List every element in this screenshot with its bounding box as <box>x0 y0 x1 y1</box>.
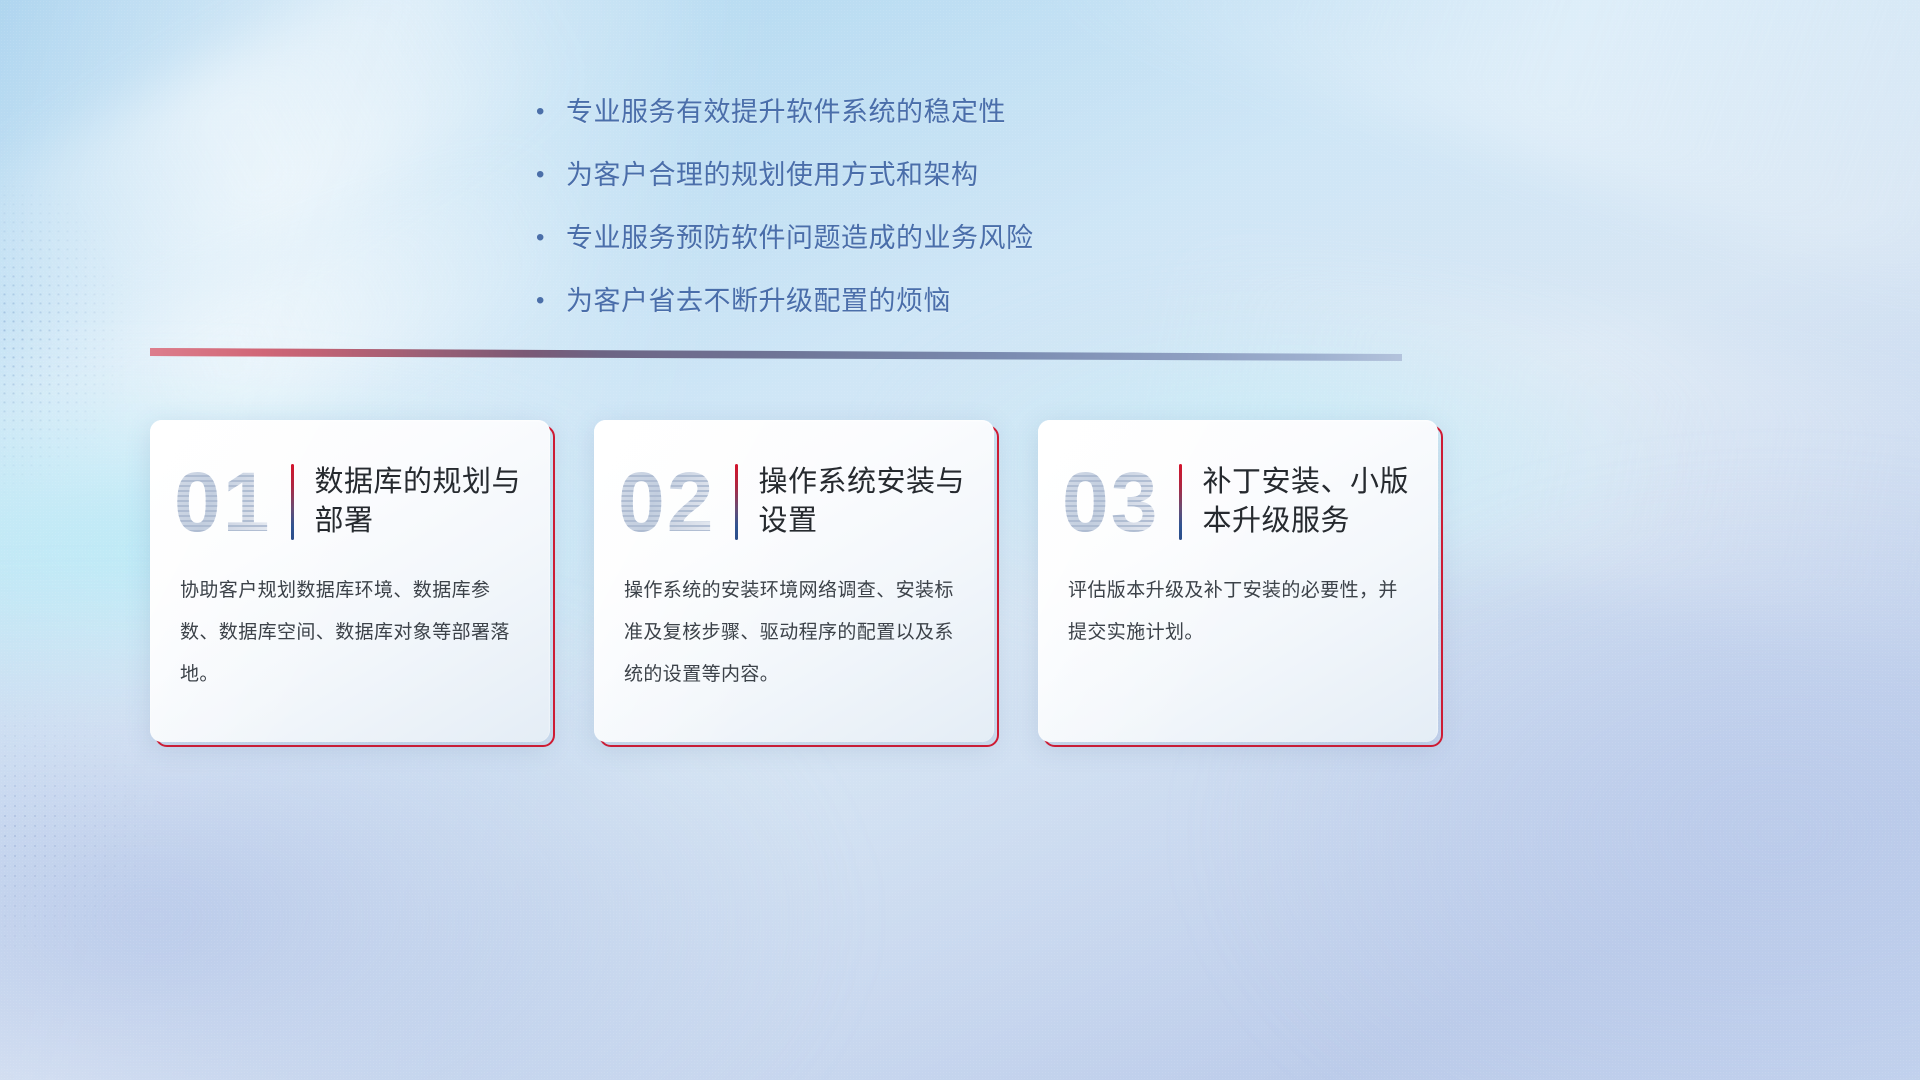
bullet-text: 为客户合理的规划使用方式和架构 <box>566 155 979 195</box>
card-body-text: 操作系统的安装环境网络调查、安装标准及复核步骤、驱动程序的配置以及系统的设置等内… <box>594 570 994 697</box>
bullet-dot-icon: • <box>536 155 566 195</box>
bullet-text: 专业服务预防软件问题造成的业务风险 <box>566 218 1034 258</box>
card-number: 01 <box>174 460 271 544</box>
service-card-01[interactable]: 01 数据库的规划与部署 协助客户规划数据库环境、数据库参数、数据库空间、数据库… <box>150 420 550 742</box>
card-divider-bar <box>1179 464 1182 540</box>
list-item: • 专业服务有效提升软件系统的稳定性 <box>536 92 1236 132</box>
bullet-dot-icon: • <box>536 92 566 132</box>
bullet-dot-icon: • <box>536 218 566 258</box>
list-item: • 为客户合理的规划使用方式和架构 <box>536 155 1236 195</box>
service-card-grid: 01 数据库的规划与部署 协助客户规划数据库环境、数据库参数、数据库空间、数据库… <box>150 420 1438 742</box>
divider-gloss <box>150 348 1402 361</box>
bullet-text: 专业服务有效提升软件系统的稳定性 <box>566 92 1006 132</box>
card-divider-bar <box>735 464 738 540</box>
service-card-03[interactable]: 03 补丁安装、小版本升级服务 评估版本升级及补丁安装的必要性，并提交实施计划。 <box>1038 420 1438 742</box>
card-header: 02 操作系统安装与设置 <box>594 420 994 570</box>
list-item: • 为客户省去不断升级配置的烦恼 <box>536 281 1236 321</box>
section-divider <box>150 348 1402 361</box>
card-divider-bar <box>291 464 294 540</box>
card-header: 03 补丁安装、小版本升级服务 <box>1038 420 1438 570</box>
card-title: 操作系统安装与设置 <box>758 463 976 541</box>
card-title: 数据库的规划与部署 <box>314 463 532 541</box>
service-card-02[interactable]: 02 操作系统安装与设置 操作系统的安装环境网络调查、安装标准及复核步骤、驱动程… <box>594 420 994 742</box>
card-number: 03 <box>1062 460 1159 544</box>
card-surface: 03 补丁安装、小版本升级服务 评估版本升级及补丁安装的必要性，并提交实施计划。 <box>1038 420 1438 742</box>
card-header: 01 数据库的规划与部署 <box>150 420 550 570</box>
list-item: • 专业服务预防软件问题造成的业务风险 <box>536 218 1236 258</box>
card-title: 补丁安装、小版本升级服务 <box>1202 463 1420 541</box>
card-surface: 01 数据库的规划与部署 协助客户规划数据库环境、数据库参数、数据库空间、数据库… <box>150 420 550 742</box>
bullet-dot-icon: • <box>536 281 566 321</box>
card-number: 02 <box>618 460 715 544</box>
card-body-text: 协助客户规划数据库环境、数据库参数、数据库空间、数据库对象等部署落地。 <box>150 570 550 697</box>
benefits-bullet-list: • 专业服务有效提升软件系统的稳定性 • 为客户合理的规划使用方式和架构 • 专… <box>536 92 1236 344</box>
bullet-text: 为客户省去不断升级配置的烦恼 <box>566 281 951 321</box>
card-body-text: 评估版本升级及补丁安装的必要性，并提交实施计划。 <box>1038 570 1438 654</box>
card-surface: 02 操作系统安装与设置 操作系统的安装环境网络调查、安装标准及复核步骤、驱动程… <box>594 420 994 742</box>
